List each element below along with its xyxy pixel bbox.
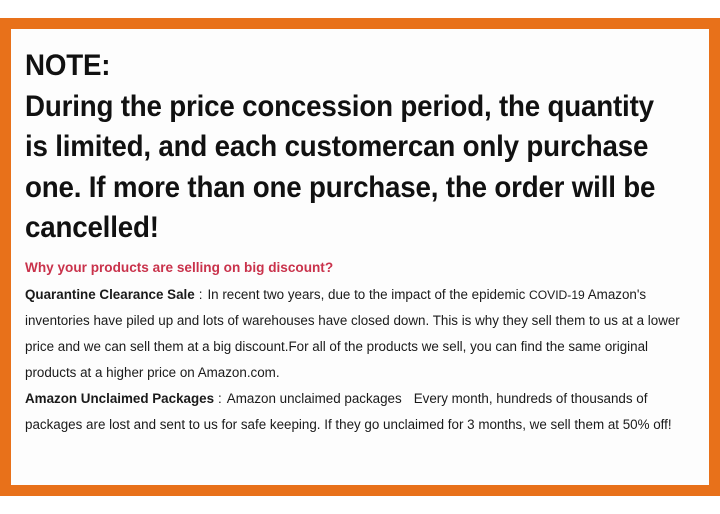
paragraph-separator-0: : [195,287,208,302]
paragraph-label-quarantine-clearance-sale: Quarantine Clearance Sale [25,287,195,302]
headline-line-3: one. If more than one purchase, the orde… [25,168,660,209]
paragraph-text-unclaimed-first: Amazon unclaimed packages [227,391,402,406]
headline-line-note-label: NOTE: [25,46,660,87]
covid-term: COVID-19 [529,288,585,302]
paragraph-amazon-unclaimed-packages: Amazon Unclaimed Packages:Amazon unclaim… [25,386,701,438]
paragraph-text-before-covid: In recent two years, due to the impact o… [207,287,529,302]
paragraph-quarantine-clearance-sale: Quarantine Clearance Sale:In recent two … [25,282,701,386]
discount-question-subheading: Why your products are selling on big dis… [25,258,701,278]
note-card-inner: NOTE: During the price concession period… [11,29,709,485]
body-copy: Quarantine Clearance Sale:In recent two … [25,282,701,438]
paragraph-label-amazon-unclaimed-packages: Amazon Unclaimed Packages [25,391,214,406]
headline-line-4: cancelled! [25,208,660,249]
headline-line-1: During the price concession period, the … [25,87,660,128]
note-card: NOTE: During the price concession period… [0,18,720,496]
paragraph-separator-1: : [214,391,227,406]
headline-line-2: is limited, and each customercan only pu… [25,127,660,168]
note-headline: NOTE: During the price concession period… [25,46,660,249]
